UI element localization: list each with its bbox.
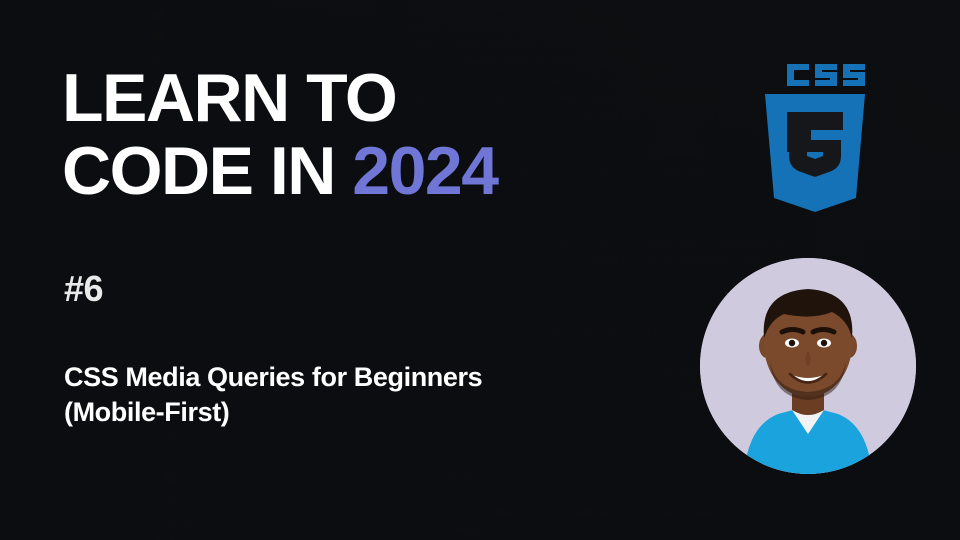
episode-number: #6 bbox=[64, 268, 103, 310]
css3-logo bbox=[763, 62, 867, 214]
headline-year-accent: 2024 bbox=[352, 133, 497, 209]
page-title: LEARN TO CODE IN 2024 bbox=[62, 62, 662, 208]
css-wordmark-icon bbox=[787, 62, 867, 88]
episode-subtitle: CSS Media Queries for Beginners (Mobile-… bbox=[64, 360, 544, 430]
video-thumbnail: ▶components▶context▶documentation▶graphq… bbox=[0, 0, 960, 540]
thumbnail-foreground: LEARN TO CODE IN 2024 #6 CSS Media Queri… bbox=[0, 0, 960, 540]
headline-line-2-plain: CODE IN bbox=[62, 133, 352, 209]
presenter-avatar bbox=[700, 258, 916, 474]
avatar-portrait-icon bbox=[700, 258, 916, 474]
headline-line-1: LEARN TO bbox=[62, 60, 396, 136]
css-shield-icon bbox=[763, 94, 867, 214]
